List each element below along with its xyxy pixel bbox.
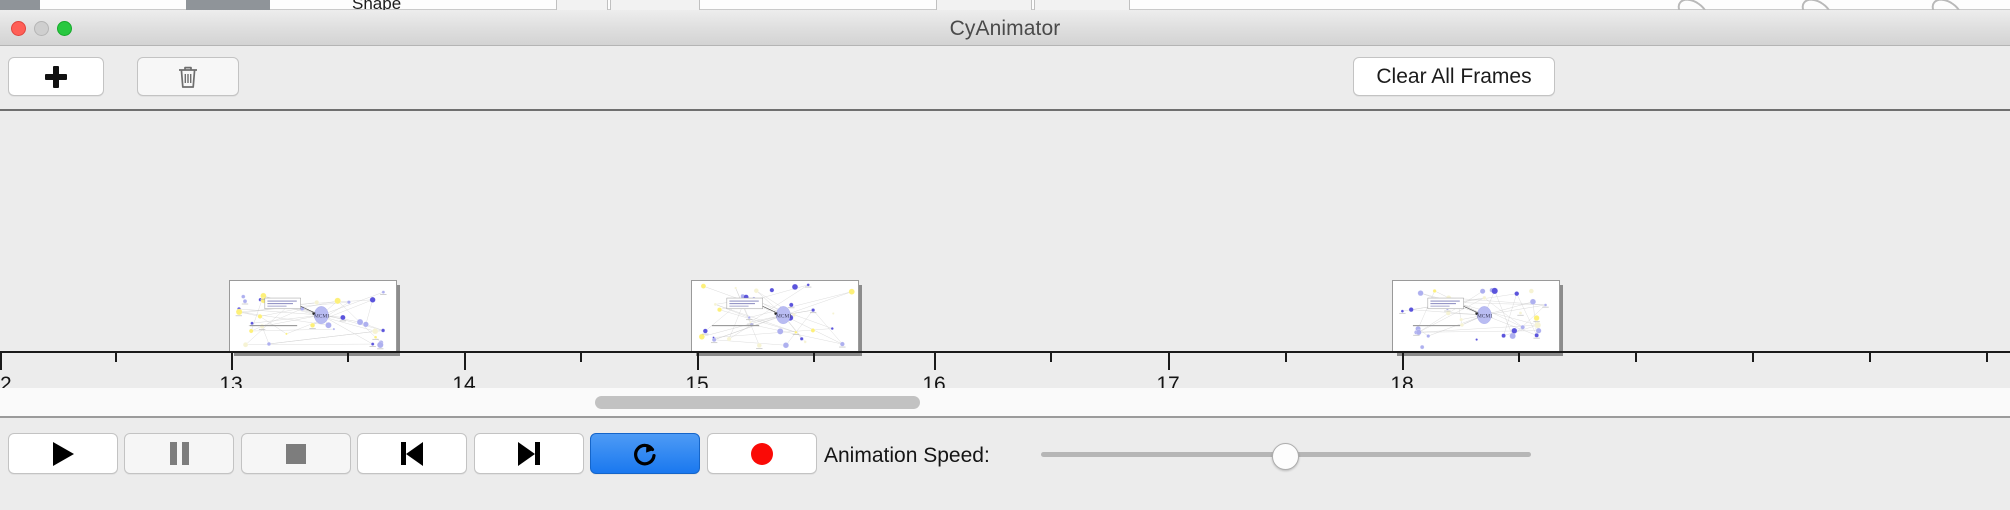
background-tab — [186, 0, 270, 10]
trash-icon — [176, 64, 200, 90]
cyanimator-window: Shape CyAnimator Clear All Frames — [0, 0, 2010, 510]
axis-tick-minor — [813, 353, 815, 362]
pause-icon — [170, 442, 189, 465]
axis-tick-major — [1402, 353, 1404, 370]
axis-tick-label: 13 — [219, 373, 242, 388]
background-field — [936, 0, 1032, 10]
axis-tick-minor — [1869, 353, 1871, 362]
axis-tick-label: 15 — [685, 373, 708, 388]
background-tab — [0, 0, 40, 10]
axis-tick-minor — [347, 353, 349, 362]
axis-tick-minor — [1285, 353, 1287, 362]
record-icon — [751, 443, 773, 465]
axis-tick-minor — [1518, 353, 1520, 362]
axis-tick-minor — [1752, 353, 1754, 362]
add-frame-button[interactable] — [8, 57, 104, 96]
background-field — [556, 0, 608, 10]
axis-tick-minor — [1986, 353, 1988, 362]
background-field — [610, 0, 700, 10]
axis-tick-minor — [580, 353, 582, 362]
background-field — [1034, 0, 1130, 10]
stop-icon — [286, 444, 306, 464]
svg-text:MCM1: MCM1 — [1477, 314, 1493, 320]
skip-back-icon — [401, 442, 423, 466]
animation-speed-label: Animation Speed: — [824, 444, 990, 468]
skip-forward-icon — [518, 442, 540, 466]
delete-frame-button[interactable] — [137, 57, 239, 96]
timeline-frame-thumbnail[interactable]: MCM1 — [691, 280, 859, 353]
axis-tick-major — [934, 353, 936, 370]
axis-tick-label: 14 — [452, 373, 475, 388]
pause-button[interactable] — [124, 433, 234, 474]
clear-all-frames-button[interactable]: Clear All Frames — [1353, 57, 1555, 96]
axis-tick-major — [231, 353, 233, 370]
axis-tick-major — [697, 353, 699, 370]
title-bar[interactable]: CyAnimator — [0, 10, 2010, 46]
axis-tick-label: 17 — [1156, 373, 1179, 388]
frames-timeline-panel[interactable]: MCM1 MCM1 MCM1 12131415161718 Seconds — [0, 111, 2010, 388]
stop-button[interactable] — [241, 433, 351, 474]
loop-button[interactable] — [590, 433, 700, 474]
background-app-strip: Shape — [0, 0, 2010, 10]
timeline-scrollbar[interactable] — [0, 388, 2010, 418]
toolbar: Clear All Frames — [0, 46, 2010, 109]
axis-tick-label: 16 — [922, 373, 945, 388]
record-button[interactable] — [707, 433, 817, 474]
plus-icon — [45, 66, 67, 88]
play-icon — [53, 442, 74, 466]
axis-tick-major — [1168, 353, 1170, 370]
animation-speed-thumb[interactable] — [1272, 443, 1299, 470]
axis-tick-minor — [1050, 353, 1052, 362]
skip-forward-button[interactable] — [474, 433, 584, 474]
svg-text:MCM1: MCM1 — [314, 314, 330, 320]
axis-tick-major — [0, 353, 2, 370]
window-title: CyAnimator — [0, 17, 2010, 41]
axis-tick-label: 18 — [1390, 373, 1413, 388]
loop-icon — [631, 440, 659, 468]
timeline-frame-thumbnail[interactable]: MCM1 — [229, 280, 397, 353]
skip-back-button[interactable] — [357, 433, 467, 474]
axis-tick-major — [464, 353, 466, 370]
axis-tick-minor — [115, 353, 117, 362]
scrollbar-thumb[interactable] — [595, 396, 920, 409]
axis-tick-minor — [1635, 353, 1637, 362]
svg-text:MCM1: MCM1 — [776, 314, 792, 320]
playback-controls: Animation Speed: — [0, 420, 2010, 510]
axis-tick-label: 12 — [0, 373, 12, 388]
timeline-axis — [0, 351, 2010, 353]
timeline-frame-thumbnail[interactable]: MCM1 — [1392, 280, 1560, 353]
play-button[interactable] — [8, 433, 118, 474]
